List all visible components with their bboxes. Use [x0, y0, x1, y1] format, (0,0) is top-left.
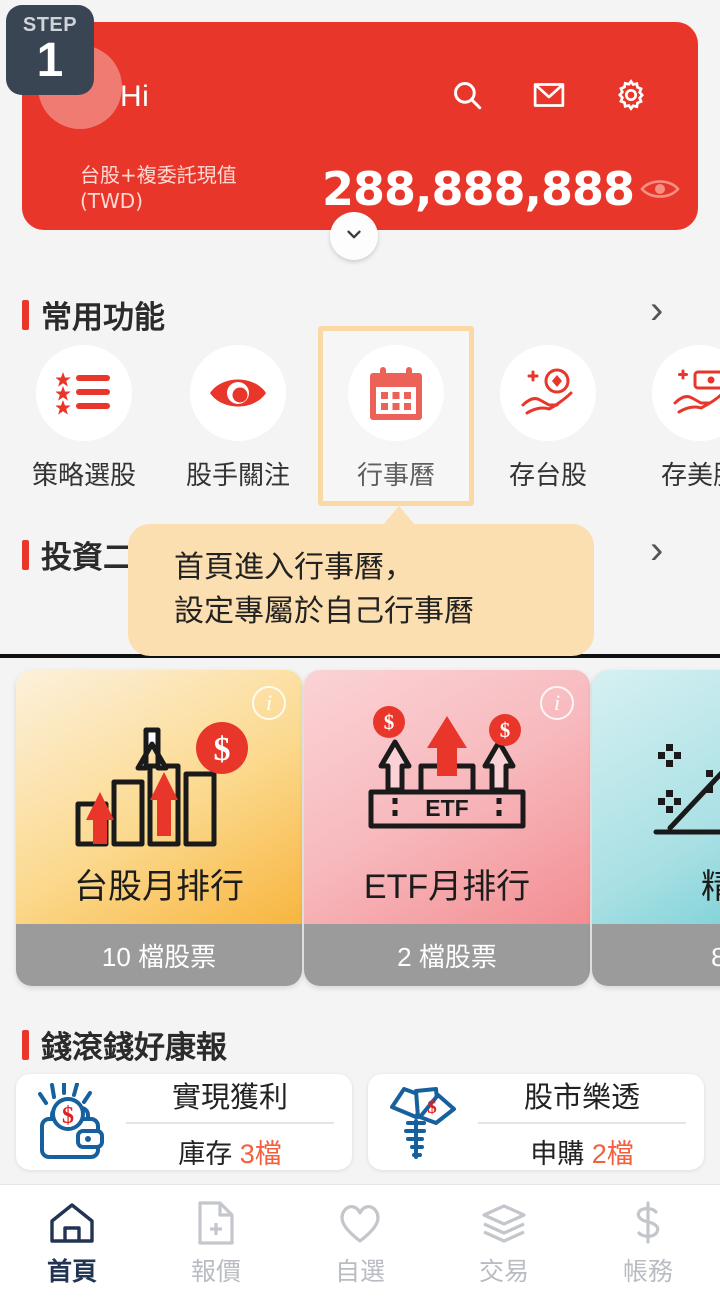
svg-text:$: $ — [427, 1097, 437, 1118]
heart-icon — [288, 1198, 432, 1248]
ranking-card-title: ETF月排行 — [304, 859, 590, 908]
step-number: 1 — [37, 37, 64, 85]
invest-section-title: 投資二 — [41, 532, 134, 577]
ranking-card-footer: 10 檔股票 — [16, 924, 302, 986]
nav-label: 交易 — [432, 1252, 576, 1288]
ranking-card-body: 精選 — [592, 670, 720, 924]
nav-item-quotes[interactable]: 報價 — [144, 1198, 288, 1288]
bar-chart-art: $ — [64, 704, 254, 854]
function-label: 存美股 — [630, 455, 720, 492]
svg-text:ETF: ETF — [425, 795, 468, 821]
search-icon[interactable] — [450, 78, 484, 112]
info-icon[interactable]: i — [252, 686, 286, 720]
chevron-down-icon — [343, 223, 365, 250]
ranking-card-list: i $ 台股月排行 10 檔股票 i — [0, 670, 720, 990]
home-icon — [0, 1198, 144, 1248]
promo-title: 股市樂透 — [478, 1074, 686, 1122]
promo-section-title: 錢滾錢好康報 — [41, 1022, 227, 1067]
nav-item-watchlist[interactable]: 自選 — [288, 1198, 432, 1288]
svg-text:$: $ — [384, 710, 395, 734]
balance-label: 台股+複委託現值 (TWD) — [80, 162, 237, 214]
ranking-card-footer: 2 檔股票 — [304, 924, 590, 986]
function-label: 存台股 — [478, 455, 618, 492]
balance-value: 288,888,888 — [322, 162, 634, 216]
common-functions-row: 策略選股 股手關注 — [0, 345, 720, 505]
invest-section-more-arrow[interactable]: › — [650, 528, 663, 573]
app-root: Hi 台股+複委託現值 (TWD) 288,888,888 — [0, 0, 720, 1300]
quote-doc-icon — [144, 1198, 288, 1248]
mail-icon[interactable] — [532, 78, 566, 112]
ranking-card-title: 台股月排行 — [16, 859, 302, 908]
nav-label: 自選 — [288, 1252, 432, 1288]
promo-status-count: 3檔 — [240, 1139, 282, 1169]
ranking-card-footer: 8 檔 — [592, 924, 720, 986]
promo-section-heading: 錢滾錢好康報 — [22, 1022, 227, 1067]
ranking-card[interactable]: i $ 台股月排行 10 檔股票 — [16, 670, 302, 986]
gear-icon[interactable] — [614, 78, 648, 112]
function-label: 策略選股 — [14, 455, 154, 492]
promo-card[interactable]: $ 股市樂透 申購 2檔 — [368, 1074, 704, 1170]
common-functions-more-arrow[interactable]: › — [650, 288, 663, 333]
growth-search-art — [640, 704, 720, 854]
function-label: 行事曆 — [326, 455, 466, 492]
common-functions-heading: 常用功能 — [22, 292, 165, 337]
nav-item-account[interactable]: 帳務 — [576, 1198, 720, 1288]
promo-text-block: 股市樂透 申購 2檔 — [478, 1074, 704, 1171]
function-label: 股手關注 — [168, 455, 308, 492]
greeting-text: Hi — [120, 80, 149, 114]
hand-coin-icon — [500, 345, 596, 441]
ranking-card-body: i $ 台股月排行 — [16, 670, 302, 924]
layers-icon — [432, 1198, 576, 1248]
heading-accent-bar — [22, 300, 29, 330]
promo-status: 申購 2檔 — [478, 1124, 686, 1171]
svg-text:$: $ — [214, 731, 231, 768]
ranking-card-body: i $ $ ETF E — [304, 670, 590, 924]
promo-status-prefix: 庫存 — [178, 1139, 240, 1169]
function-item-calendar[interactable]: 行事曆 — [326, 345, 466, 492]
nav-item-home[interactable]: 首頁 — [0, 1198, 144, 1288]
header-icon-group — [450, 78, 648, 112]
invest-section-heading: 投資二 — [22, 532, 134, 577]
promo-card[interactable]: $ 實現獲利 庫存 3檔 — [16, 1074, 352, 1170]
step-badge: STEP 1 — [6, 5, 94, 95]
function-item-save-us-stock[interactable]: 存美股 — [630, 345, 720, 492]
promo-title: 實現獲利 — [126, 1074, 334, 1122]
ranking-card[interactable]: 精選 8 檔 — [592, 670, 720, 986]
promo-text-block: 實現獲利 庫存 3檔 — [126, 1074, 352, 1171]
nav-label: 帳務 — [576, 1252, 720, 1288]
svg-text:$: $ — [62, 1103, 74, 1129]
common-functions-title: 常用功能 — [41, 292, 165, 337]
tooltip-arrow — [382, 506, 416, 526]
function-item-save-tw-stock[interactable]: 存台股 — [478, 345, 618, 492]
ranking-card-title: 精選 — [592, 859, 720, 908]
eye-icon[interactable] — [638, 174, 682, 204]
onboarding-tooltip: 首頁進入行事曆， 設定專屬於自己行事曆 — [128, 524, 594, 656]
heading-accent-bar — [22, 540, 29, 570]
step-word: STEP — [23, 15, 77, 35]
hand-bill-icon — [652, 345, 720, 441]
heading-accent-bar — [22, 1030, 29, 1060]
tooltip-text: 首頁進入行事曆， 設定專屬於自己行事曆 — [128, 546, 474, 634]
nav-label: 首頁 — [0, 1252, 144, 1288]
etf-podium-art: $ $ ETF — [347, 704, 547, 854]
nav-label: 報價 — [144, 1252, 288, 1288]
promo-status-count: 2檔 — [592, 1139, 634, 1169]
wallet-coin-icon: $ — [16, 1083, 126, 1161]
dollar-icon — [576, 1198, 720, 1248]
function-item-watch[interactable]: 股手關注 — [168, 345, 308, 492]
promo-status-prefix: 申購 — [530, 1139, 592, 1169]
bottom-navigation: 首頁 報價 自選 交易 — [0, 1184, 720, 1300]
calendar-icon — [348, 345, 444, 441]
eye-icon — [190, 345, 286, 441]
money-fan-icon: $ — [368, 1083, 478, 1161]
function-item-strategy-pick[interactable]: 策略選股 — [14, 345, 154, 492]
expand-balance-button[interactable] — [330, 212, 378, 260]
portfolio-header-card: Hi 台股+複委託現值 (TWD) 288,888,888 — [22, 22, 698, 230]
star-list-icon — [36, 345, 132, 441]
svg-text:$: $ — [500, 718, 511, 742]
nav-item-trade[interactable]: 交易 — [432, 1198, 576, 1288]
promo-status: 庫存 3檔 — [126, 1124, 334, 1171]
ranking-card[interactable]: i $ $ ETF E — [304, 670, 590, 986]
